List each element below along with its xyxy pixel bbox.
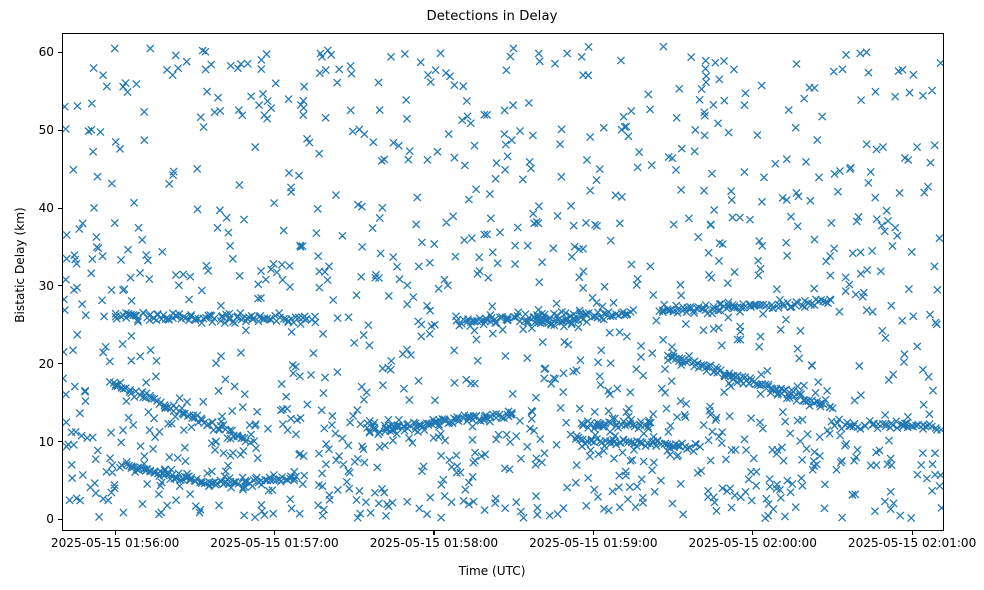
x-axis-tick-mark	[433, 531, 434, 535]
figure-canvas: Detections in Delay 0102030405060 2025-0…	[0, 0, 984, 590]
y-axis-tick-mark	[58, 363, 62, 364]
y-axis-tick-label: 0	[10, 513, 54, 525]
y-axis-tick-label: 10	[10, 436, 54, 448]
y-axis-tick-label: 60	[10, 46, 54, 58]
y-axis-tick-label: 50	[10, 124, 54, 136]
plot-area[interactable]	[62, 33, 944, 531]
scatter-series	[63, 34, 943, 530]
y-axis-tick-mark	[58, 130, 62, 131]
x-axis-label: Time (UTC)	[0, 564, 984, 578]
y-axis-tick-mark	[58, 441, 62, 442]
x-axis-tick-mark	[912, 531, 913, 535]
y-axis-label: Bistatic Delay (km)	[13, 155, 27, 375]
scatter-markers	[63, 43, 943, 522]
y-axis-tick-mark	[58, 52, 62, 53]
x-axis-tick-mark	[593, 531, 594, 535]
y-axis-tick-mark	[58, 519, 62, 520]
x-axis-tick-mark	[752, 531, 753, 535]
x-axis-tick-mark	[274, 531, 275, 535]
page-title: Detections in Delay	[0, 9, 984, 24]
x-axis-tick-label: 2025-05-15 02:01:00	[807, 537, 984, 550]
y-axis-tick-mark	[58, 285, 62, 286]
x-axis-tick-mark	[115, 531, 116, 535]
y-axis-tick-mark	[58, 208, 62, 209]
scatter-marker-group	[63, 43, 943, 522]
